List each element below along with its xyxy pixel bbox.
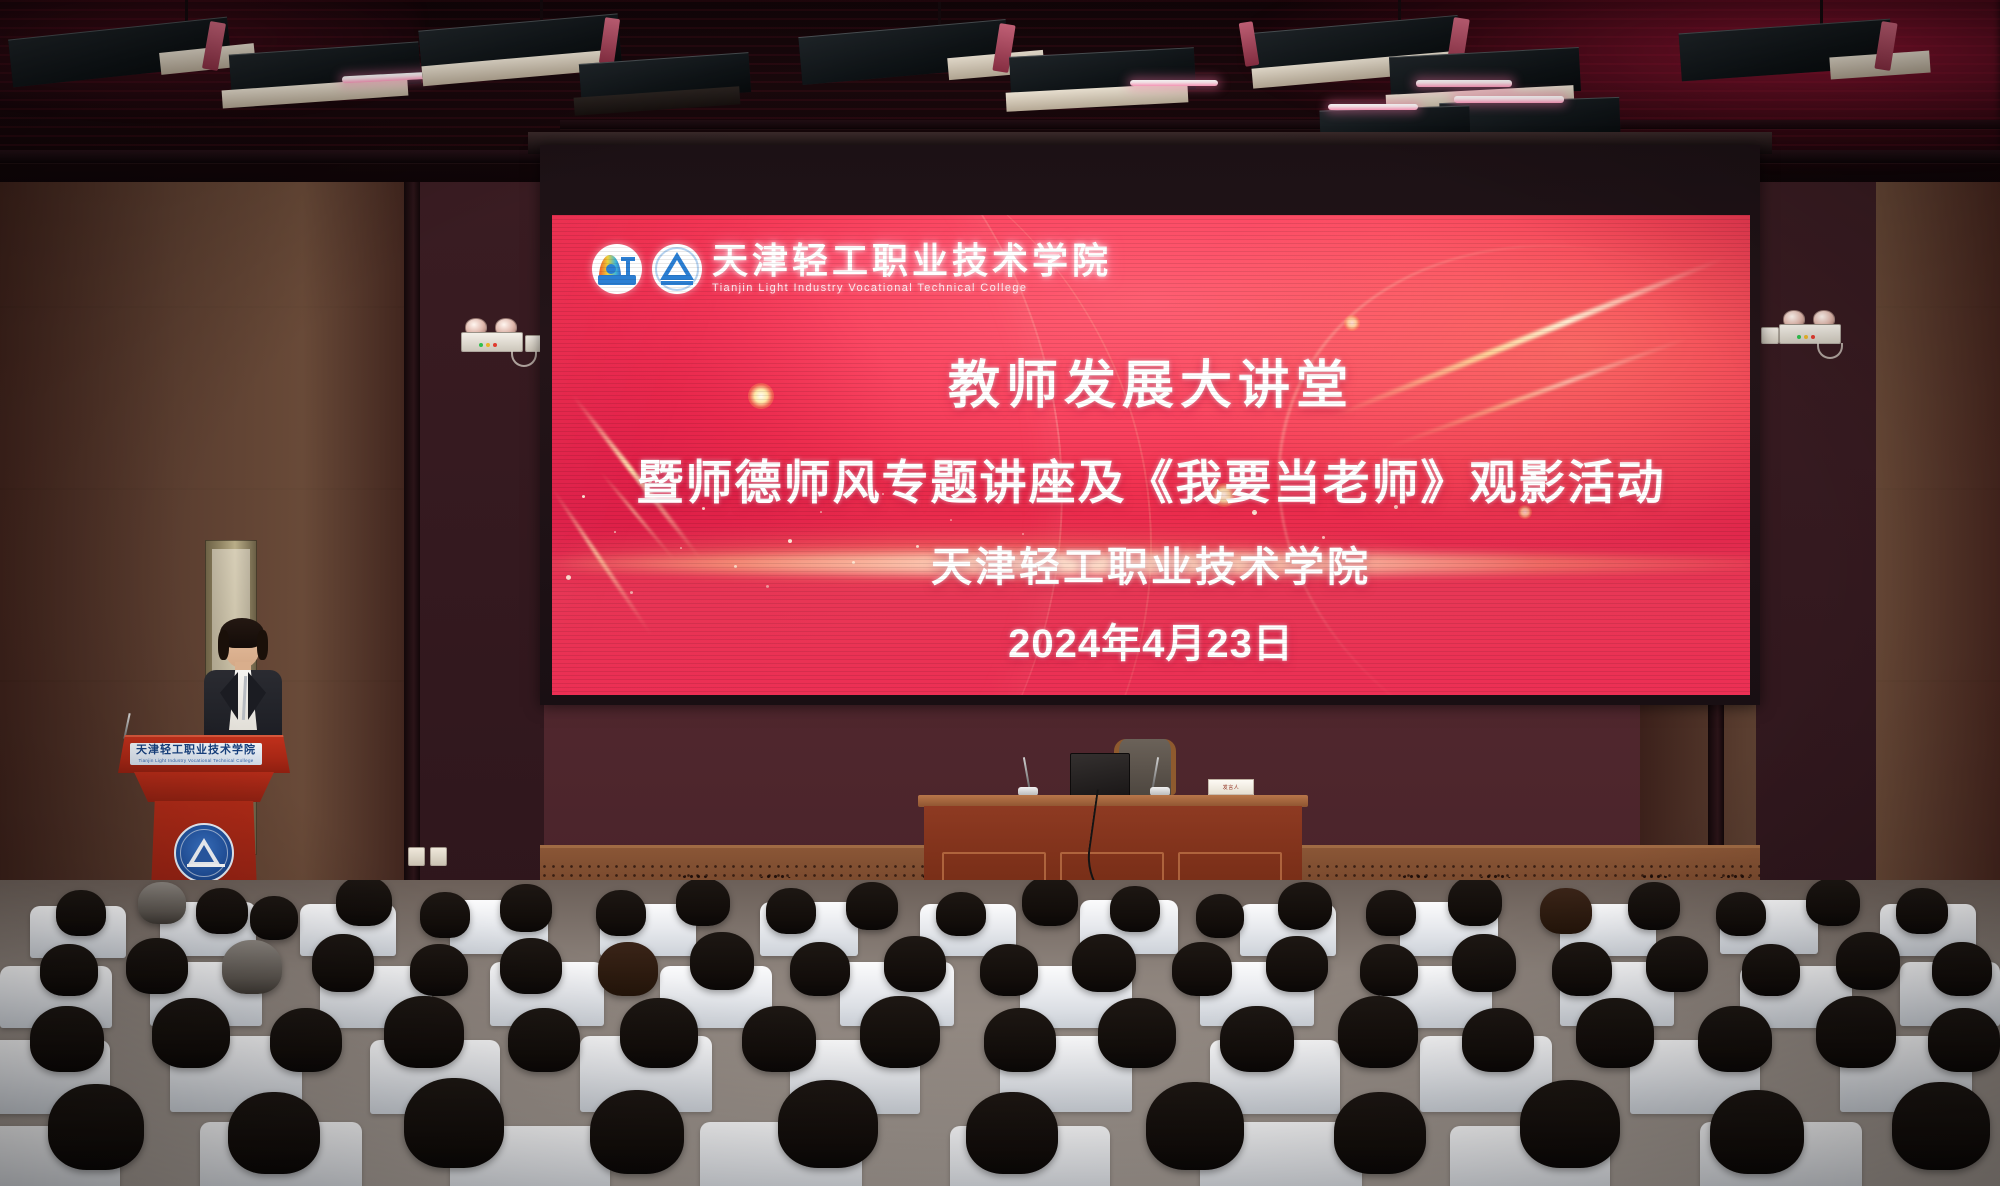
audience-head [312, 934, 374, 992]
audience-head [508, 1008, 580, 1072]
audience-head [1072, 934, 1136, 992]
audience-head [56, 890, 106, 936]
wall-pillar [404, 182, 420, 942]
audience-head [690, 932, 754, 990]
audience-head [936, 892, 986, 936]
audience-head [48, 1084, 144, 1170]
audience-head [1932, 942, 1992, 996]
audience-head [846, 882, 898, 930]
stage-light-fixture [580, 58, 790, 138]
audience-head [1278, 882, 1332, 930]
stage-light-fixture [1680, 12, 1930, 104]
audience-head [1520, 1080, 1620, 1168]
audience-head [40, 944, 98, 996]
audience-head [1716, 892, 1766, 936]
audience-head [1698, 1006, 1772, 1072]
emergency-light-left [455, 318, 529, 352]
audience-head [1196, 894, 1244, 938]
audience-head [138, 882, 186, 924]
audience-head [500, 884, 552, 932]
audience-head [778, 1080, 878, 1168]
speaker-hair [218, 630, 229, 660]
audience-head [1098, 998, 1176, 1068]
audience-head [250, 896, 298, 940]
audience-head [1646, 936, 1708, 992]
audience-head [1836, 932, 1900, 990]
audience-head [884, 936, 946, 992]
audience-head [270, 1008, 342, 1072]
audience-head [620, 998, 698, 1068]
wall-socket[interactable] [408, 847, 425, 866]
event-main-title: 教师发展大讲堂 [552, 343, 1750, 418]
audience-head [1366, 890, 1416, 936]
audience-head [1576, 998, 1654, 1068]
audience-head [1710, 1090, 1804, 1174]
organization-name: 天津轻工职业技术学院 [552, 533, 1750, 593]
audience-head [410, 944, 468, 996]
logo-chinese-name: 天津轻工职业技术学院 [712, 243, 1112, 279]
audience-head [336, 880, 392, 926]
audience-head [1540, 888, 1592, 934]
audience-head [1266, 936, 1328, 992]
screen-footer-block: 天津轻工职业技术学院 2024年4月23日 [552, 533, 1750, 669]
logo-english-name: Tianjin Light Industry Vocational Techni… [712, 283, 1112, 294]
audience-head [404, 1078, 504, 1168]
college-seal-icon [174, 823, 234, 883]
audience-head [1816, 996, 1896, 1068]
podium-mid [134, 772, 274, 802]
event-date: 2024年4月23日 [552, 611, 1750, 669]
audience-head [1552, 942, 1612, 996]
audience-head [1338, 996, 1418, 1068]
audience-head [1806, 880, 1860, 926]
auditorium-scene: 天津轻工职业技术学院 Tianjin Light Industry Vocati… [0, 0, 2000, 1186]
light-orb [1344, 315, 1360, 331]
audience-head [1110, 886, 1160, 932]
audience-head [1022, 880, 1078, 926]
audience-head [1896, 888, 1948, 934]
audience-head [1892, 1082, 1990, 1170]
audience-head [1334, 1092, 1426, 1174]
triangle-circle-mark-icon [652, 244, 702, 294]
audience-head [1172, 942, 1232, 996]
audience-head [598, 942, 658, 996]
audience-area [0, 880, 2000, 1186]
audience-head [1448, 880, 1502, 926]
led-screen: 天津轻工职业技术学院 Tianjin Light Industry Vocati… [552, 215, 1750, 695]
audience-head [500, 938, 562, 994]
screen-title-block: 教师发展大讲堂 暨师德师风专题讲座及《我要当老师》观影活动 [552, 343, 1750, 513]
podium-plate-english: Tianjin Light Industry Vocational Techni… [138, 758, 253, 763]
audience-head [790, 942, 850, 996]
podium-plate-chinese: 天津轻工职业技术学院 [136, 745, 256, 756]
stage-light-fixture [1010, 52, 1240, 136]
audience-head [860, 996, 940, 1068]
wall-panel [1756, 182, 1876, 942]
audience-head [1452, 934, 1516, 992]
emergency-light-right [1773, 310, 1847, 344]
audience-head [766, 888, 816, 934]
audience-head [980, 944, 1038, 996]
audience-head [420, 892, 470, 938]
audience-head [196, 888, 248, 934]
screen-logo: 天津轻工职业技术学院 Tianjin Light Industry Vocati… [592, 243, 1112, 294]
audience-head [1360, 944, 1418, 996]
audience-head [596, 890, 646, 936]
audience-head [590, 1090, 684, 1174]
audience-head [1928, 1008, 2000, 1072]
wave-gate-mark-icon [592, 244, 642, 294]
audience-head [126, 938, 188, 994]
name-card: 发言人 [1208, 779, 1254, 795]
audience-head [1146, 1082, 1244, 1170]
audience-head [30, 1006, 104, 1072]
audience-head [222, 940, 282, 994]
audience-head [1742, 944, 1800, 996]
audience-head [966, 1092, 1058, 1174]
wall-socket[interactable] [430, 847, 447, 866]
audience-head [152, 998, 230, 1068]
audience-head [742, 1006, 816, 1072]
audience-head [984, 1008, 1056, 1072]
podium-nameplate: 天津轻工职业技术学院 Tianjin Light Industry Vocati… [130, 743, 262, 765]
audience-head [384, 996, 464, 1068]
audience-head [676, 880, 730, 926]
event-subtitle: 暨师德师风专题讲座及《我要当老师》观影活动 [552, 444, 1750, 513]
speaker-at-podium [196, 618, 288, 748]
speaker-hair [257, 630, 268, 660]
audience-head [1628, 882, 1680, 930]
audience-head [228, 1092, 320, 1174]
audience-head [1220, 1006, 1294, 1072]
audience-head [1462, 1008, 1534, 1072]
wall-panel [420, 182, 544, 942]
name-card-text: 发言人 [1223, 784, 1240, 791]
